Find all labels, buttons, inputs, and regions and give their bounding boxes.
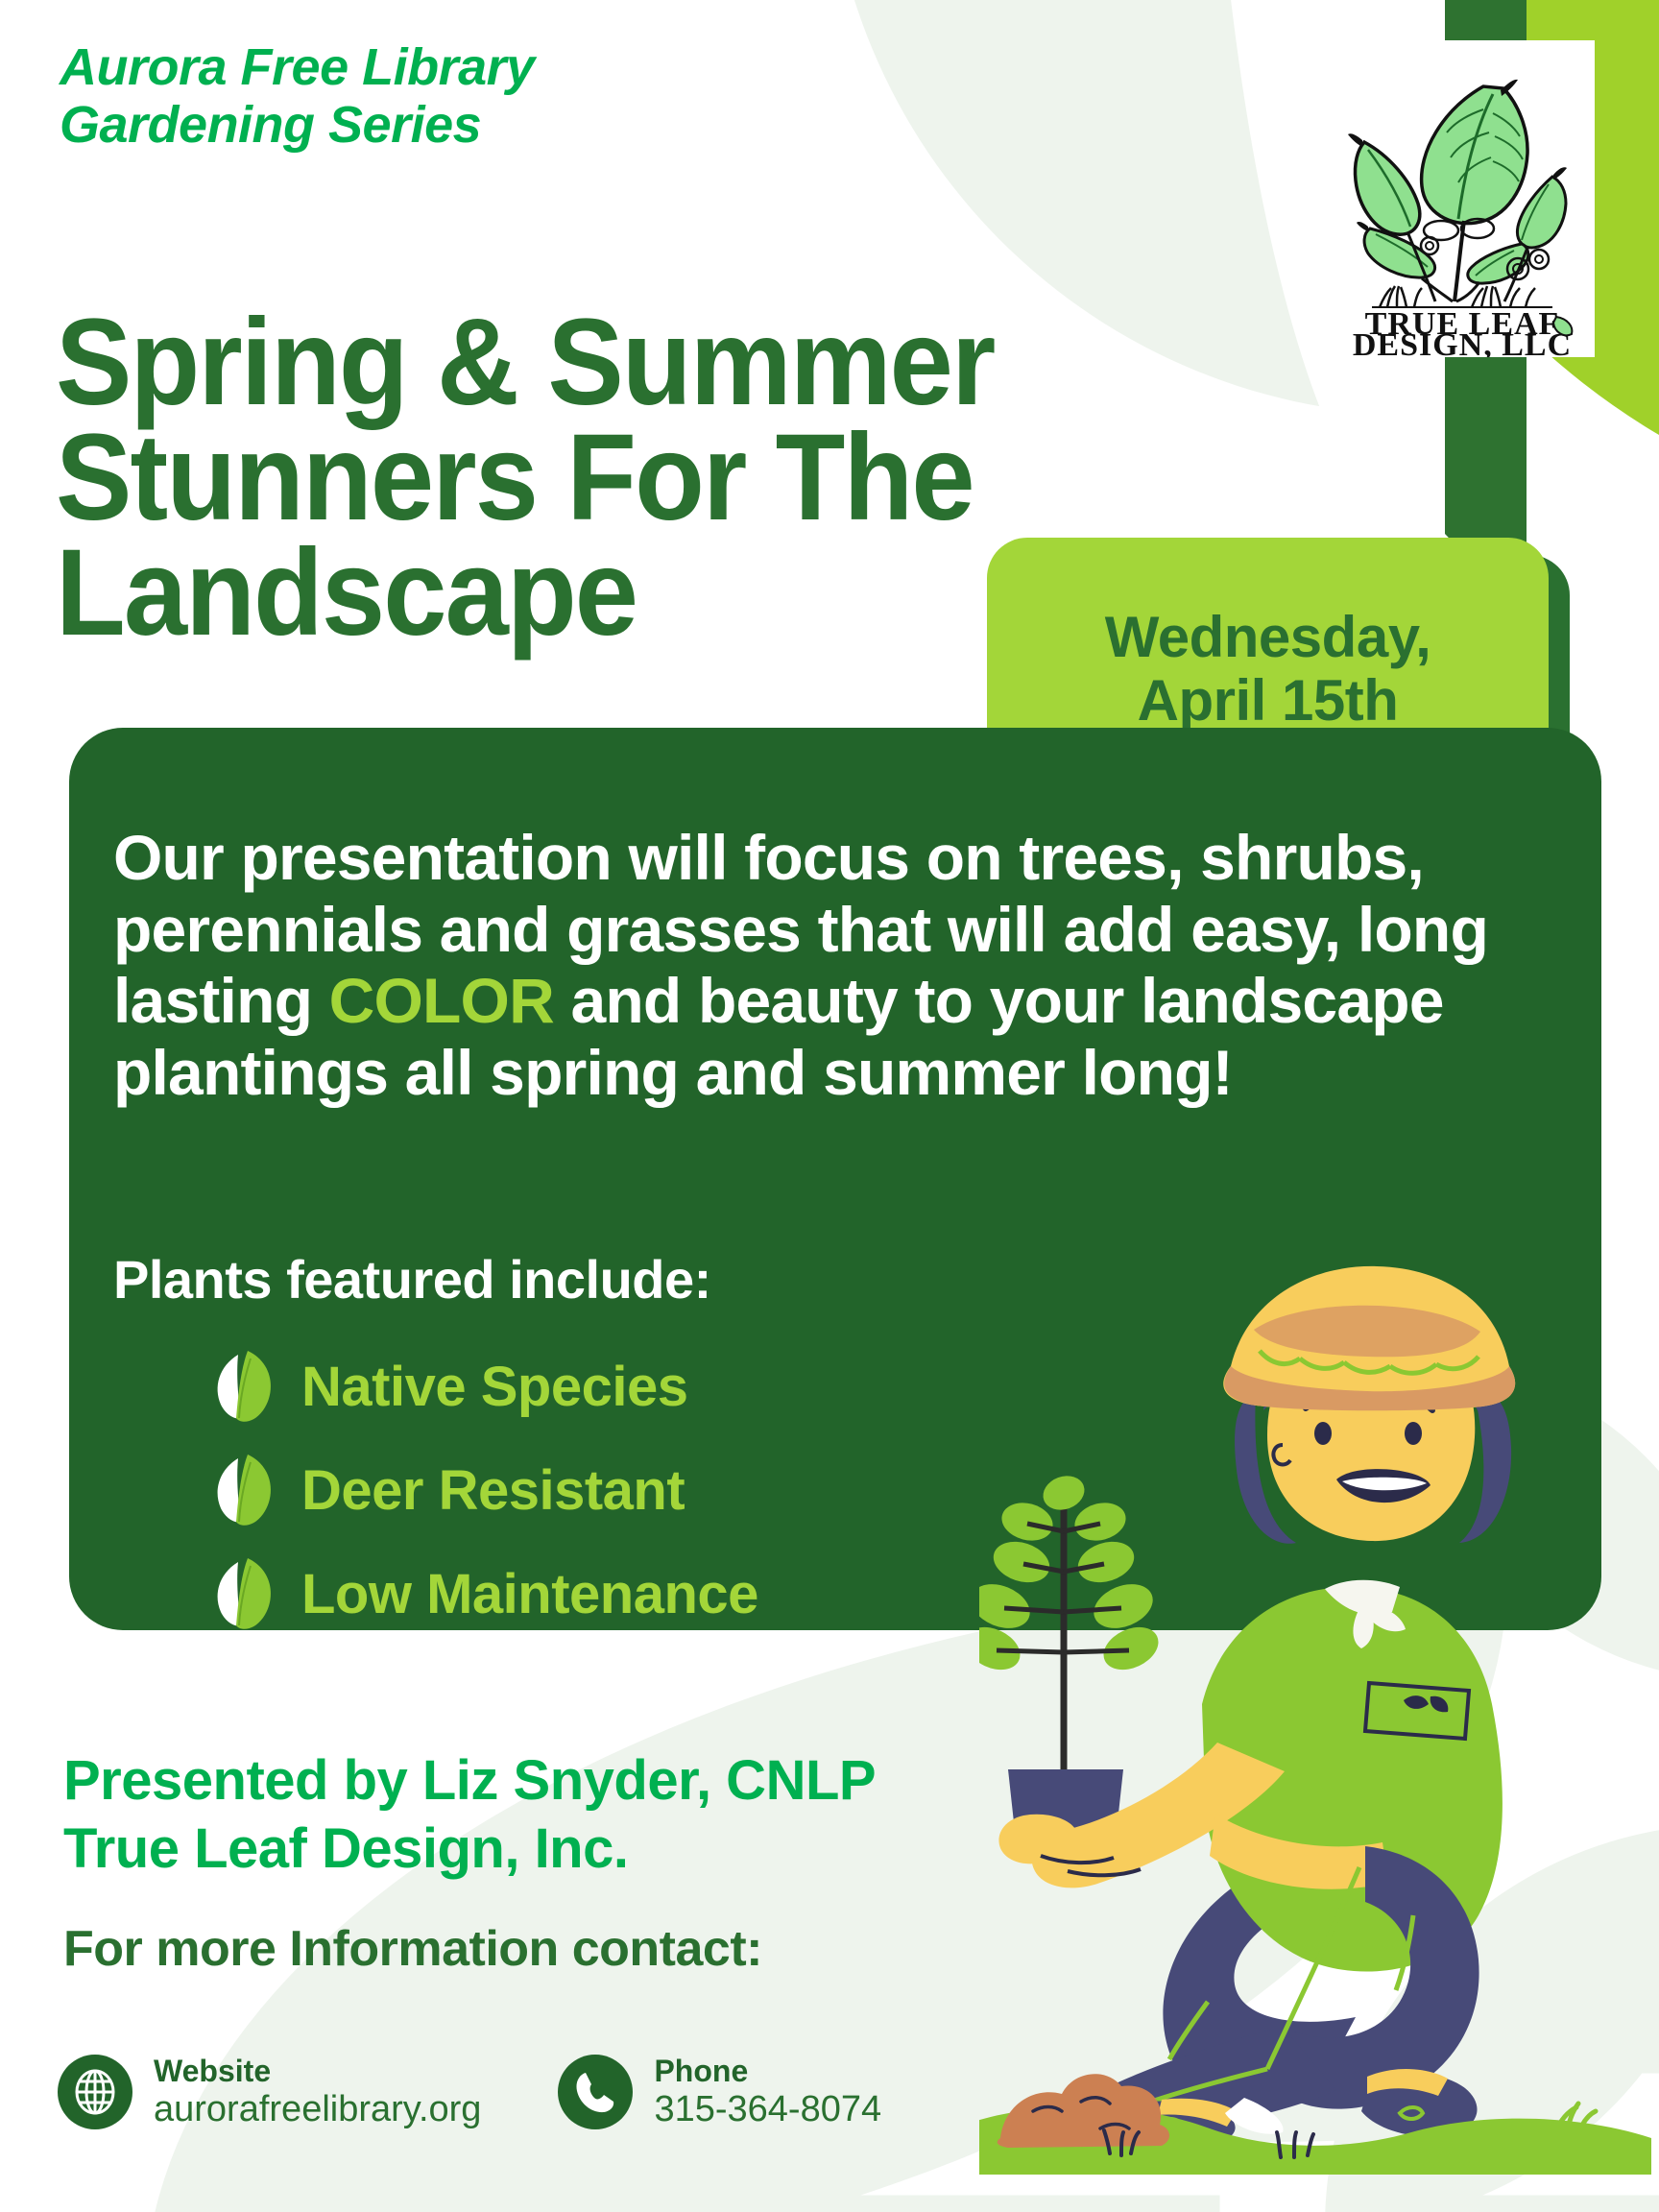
contact-website-label: Website [154, 2055, 481, 2089]
contact-row: Website aurorafreelibrary.org Phone 315-… [58, 2055, 881, 2129]
list-item-label: Native Species [301, 1355, 687, 1419]
series-kicker: Aurora Free Library Gardening Series [60, 38, 885, 155]
contact-phone[interactable]: Phone 315-364-8074 [558, 2055, 881, 2129]
plants-featured-label: Plants featured include: [113, 1248, 711, 1310]
page-title-line1: Spring & Summer [56, 305, 1163, 421]
kneeling-gardener-illustration [979, 1205, 1659, 2175]
series-kicker-line2: Gardening Series [60, 96, 885, 154]
list-item: Deer Resistant [209, 1438, 977, 1542]
event-date-date: April 15th [1138, 669, 1399, 733]
description-text: Our presentation will focus on trees, sh… [113, 822, 1544, 1108]
contact-website[interactable]: Website aurorafreelibrary.org [58, 2055, 481, 2129]
true-leaf-design-logo: TRUE LEAF DESIGN, LLC [1330, 40, 1595, 357]
phone-icon [558, 2055, 633, 2129]
list-item-label: Deer Resistant [301, 1458, 685, 1523]
list-item-label: Low Maintenance [301, 1562, 758, 1626]
list-item: Low Maintenance [209, 1542, 977, 1646]
page-title-line2: Stunners For The [56, 421, 1163, 536]
poster-canvas: Aurora Free Library Gardening Series Spr… [0, 0, 1659, 2212]
list-item: Native Species [209, 1334, 977, 1438]
leaf-icon [209, 1349, 276, 1424]
globe-icon [58, 2055, 132, 2129]
description-highlight: COLOR [329, 965, 554, 1036]
presenter-name: Presented by Liz Snyder, CNLP [63, 1747, 1167, 1815]
leaf-icon [209, 1453, 276, 1527]
presenter-block: Presented by Liz Snyder, CNLP True Leaf … [63, 1747, 1167, 1884]
presenter-company: True Leaf Design, Inc. [63, 1815, 1167, 1884]
logo-line2: DESIGN, LLC [1353, 327, 1572, 357]
contact-website-value[interactable]: aurorafreelibrary.org [154, 2089, 481, 2130]
contact-phone-value[interactable]: 315-364-8074 [654, 2089, 881, 2130]
plants-featured-list: Native Species Deer Resistant Low Ma [209, 1334, 977, 1646]
leaf-icon [209, 1556, 276, 1631]
event-date-day: Wednesday, [1105, 606, 1431, 669]
contact-heading: For more Information contact: [63, 1920, 762, 1978]
series-kicker-line1: Aurora Free Library [60, 38, 885, 96]
contact-phone-label: Phone [654, 2055, 881, 2089]
